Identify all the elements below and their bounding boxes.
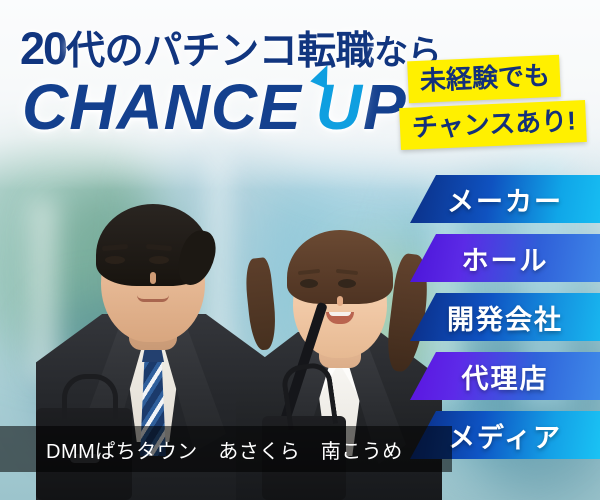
category-label: メーカー: [447, 180, 563, 219]
woman-eye-right: [338, 279, 356, 288]
category-label: 代理店: [462, 357, 549, 396]
badge-line-2: チャンスあり!: [399, 100, 587, 150]
badge-line-1: 未経験でも: [407, 55, 561, 104]
man-eye-right: [149, 256, 169, 264]
caption-band: DMMぱちタウン あさくら 南こうめ: [0, 426, 452, 472]
category-button-maker[interactable]: メーカー: [410, 175, 600, 223]
category-button-developer[interactable]: 開発会社: [410, 293, 600, 341]
woman-eye-left: [300, 279, 318, 288]
headline-text: 20代のパチンコ転職なら: [20, 20, 441, 76]
logo-word-chance: CHANCE: [22, 71, 302, 143]
category-label: 開発会社: [447, 298, 563, 337]
category-label: ホール: [462, 239, 549, 278]
man-eye-left: [105, 256, 125, 264]
woman-nose: [337, 296, 343, 306]
category-button-agency[interactable]: 代理店: [410, 352, 600, 400]
man-mouth: [137, 295, 169, 302]
caption-text: DMMぱちタウン あさくら 南こうめ: [46, 435, 403, 464]
headline-number: 20: [20, 23, 66, 74]
highlight-badge: 未経験でも チャンスあり!: [400, 58, 590, 146]
logo-chance-up: CHANCEUP: [22, 70, 407, 144]
man-nose: [150, 272, 156, 284]
logo-letter-u: U: [316, 70, 363, 144]
advertisement-banner[interactable]: 20代のパチンコ転職なら CHANCEUP 未経験でも チャンスあり! メーカー…: [0, 0, 600, 500]
category-label: メディア: [448, 416, 562, 455]
woman-hair-strand-left: [243, 257, 278, 351]
category-button-hall[interactable]: ホール: [410, 234, 600, 282]
woman-hair: [287, 230, 393, 304]
